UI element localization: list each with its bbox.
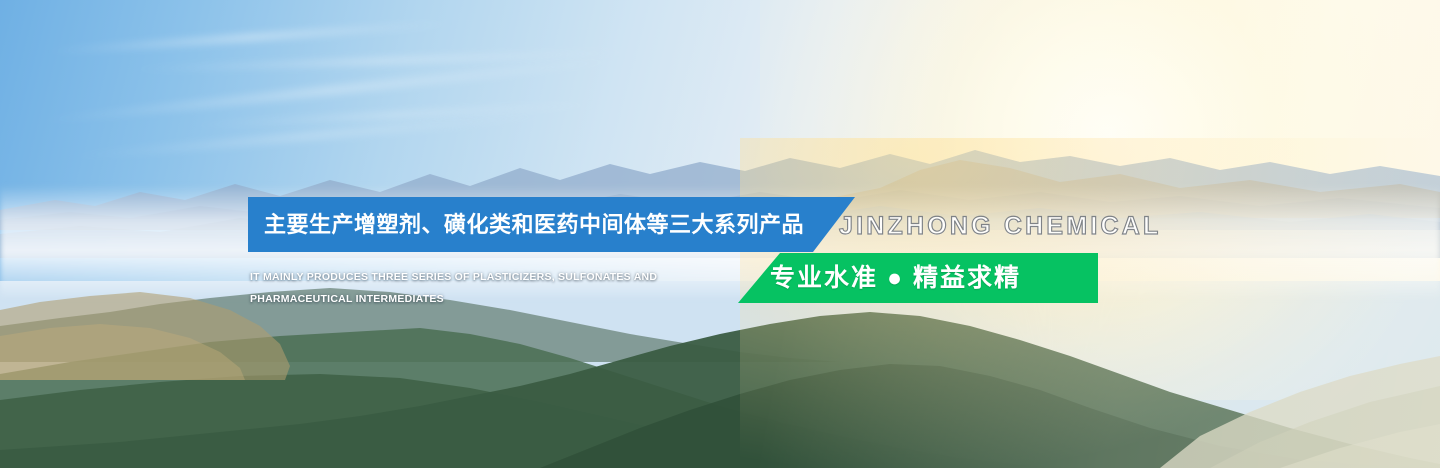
subtitle-english: IT MAINLY PRODUCES THREE SERIES OF PLAST… (250, 266, 755, 310)
banner-copy-block: 主要生产增塑剂、磺化类和医药中间体等三大系列产品 JINZHONG CHEMIC… (0, 0, 1440, 468)
brand-outline-text: JINZHONG CHEMICAL (839, 212, 1161, 241)
headline-chinese: 主要生产增塑剂、磺化类和医药中间体等三大系列产品 (264, 206, 804, 244)
hero-banner: 主要生产增塑剂、磺化类和医药中间体等三大系列产品 JINZHONG CHEMIC… (0, 0, 1440, 468)
slogan-chinese: 专业水准 ● 精益求精 (770, 260, 1021, 296)
